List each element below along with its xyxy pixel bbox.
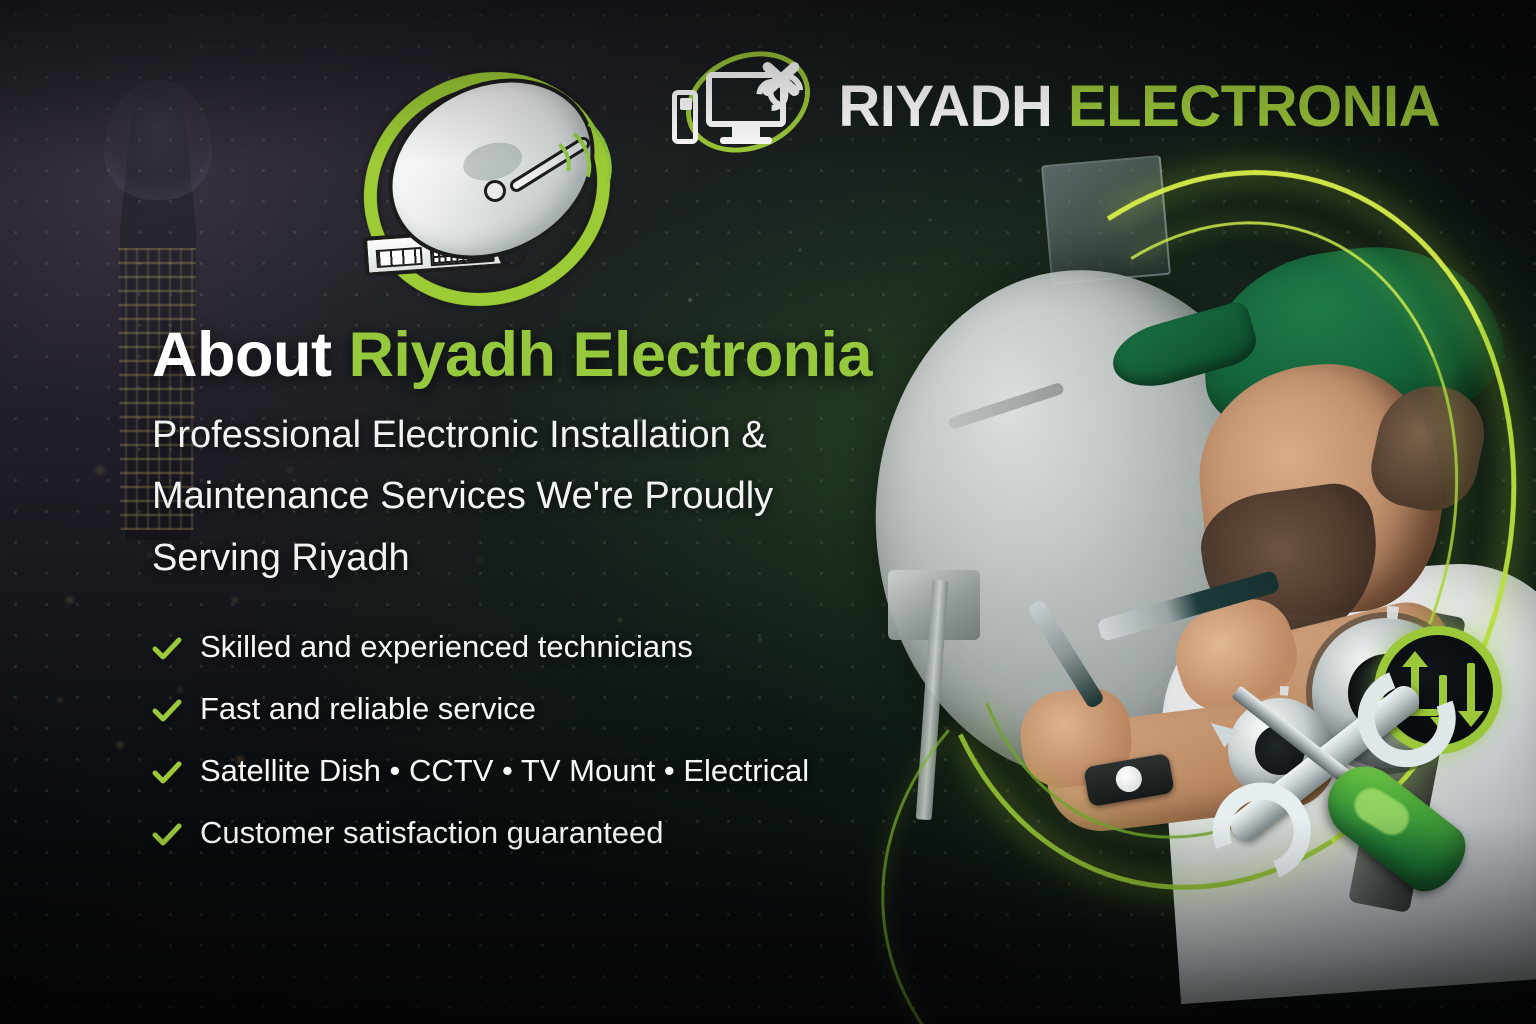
list-item: Skilled and experienced technicians	[152, 629, 1012, 665]
list-item-label: Customer satisfaction guaranteed	[200, 815, 664, 851]
brand-logo[interactable]: RIYADH ELECTRONIA	[666, 52, 1440, 160]
logo-word-riyadh: RIYADH	[838, 74, 1052, 139]
dish-feed-tip	[484, 180, 506, 202]
subheading: Professional Electronic Installation & M…	[152, 405, 892, 590]
monitor-stand	[732, 127, 760, 137]
satellite-dish-icon	[352, 62, 622, 317]
tools-gears-icon	[1192, 598, 1512, 928]
about-banner: RIYADH ELECTRONIA About Riyadh Electroni…	[0, 0, 1536, 1024]
receiver-buttons	[376, 247, 423, 268]
arrow-down-2-icon	[1467, 663, 1475, 715]
title-brand: Riyadh Electronia	[348, 320, 872, 390]
content-block: About Riyadh Electronia Professional Ele…	[152, 322, 1012, 877]
page-title: About Riyadh Electronia	[152, 322, 1012, 389]
logo-word-electronia: ELECTRONIA	[1068, 74, 1440, 139]
title-about: About	[152, 320, 348, 390]
check-icon	[152, 696, 182, 726]
pc-tower-icon	[672, 90, 698, 144]
list-item-label: Skilled and experienced technicians	[200, 629, 693, 665]
feature-list: Skilled and experienced technicians Fast…	[152, 629, 1012, 851]
list-item: Customer satisfaction guaranteed	[152, 815, 1012, 851]
subheading-line-1: Professional Electronic Installation &	[152, 405, 892, 467]
logo-wordmark: RIYADH ELECTRONIA	[838, 73, 1440, 140]
check-icon	[152, 758, 182, 788]
list-item: Satellite Dish • CCTV • TV Mount • Elect…	[152, 753, 1012, 789]
list-item: Fast and reliable service	[152, 691, 1012, 727]
list-item-label: Fast and reliable service	[200, 691, 536, 727]
check-icon	[152, 634, 182, 664]
subheading-line-3: Serving Riyadh	[152, 528, 892, 590]
computer-repair-icon	[666, 52, 816, 160]
list-item-label: Satellite Dish • CCTV • TV Mount • Elect…	[200, 753, 809, 789]
monitor-base	[720, 137, 772, 144]
subheading-line-2: Maintenance Services We're Proudly	[152, 466, 892, 528]
check-icon	[152, 820, 182, 850]
